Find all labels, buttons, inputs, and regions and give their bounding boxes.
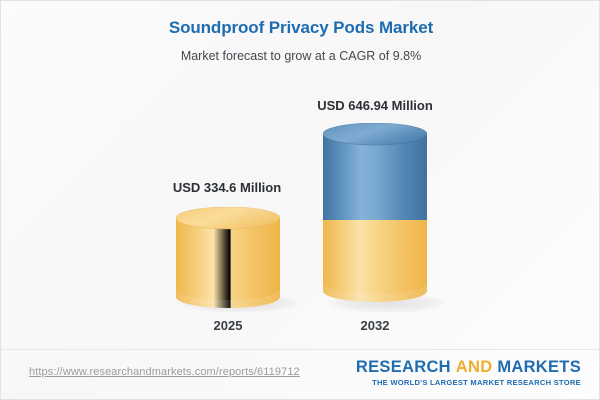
logo-wordmark: RESEARCH AND MARKETS (356, 357, 581, 377)
logo-word-and: AND (456, 358, 493, 376)
bar-group-2032: USD 646.94 Million (1, 1, 600, 341)
chart-card: Soundproof Privacy Pods Market Market fo… (0, 0, 600, 400)
research-and-markets-logo[interactable]: RESEARCH AND MARKETS THE WORLD'S LARGEST… (356, 357, 581, 387)
cylinder-svg-2032 (323, 123, 427, 308)
logo-word-markets: MARKETS (497, 358, 581, 376)
logo-word-research: RESEARCH (356, 358, 451, 376)
bar-cylinder-2032 (323, 123, 427, 308)
bar-value-label-2032: USD 646.94 Million (265, 98, 485, 113)
report-url-link[interactable]: https://www.researchandmarkets.com/repor… (29, 366, 300, 378)
logo-tagline: THE WORLD'S LARGEST MARKET RESEARCH STOR… (356, 378, 581, 387)
bar-category-label-2032: 2032 (265, 318, 485, 333)
chart-footer: https://www.researchandmarkets.com/repor… (1, 349, 600, 400)
chart-plot-area: USD 334.6 Million (1, 1, 600, 341)
